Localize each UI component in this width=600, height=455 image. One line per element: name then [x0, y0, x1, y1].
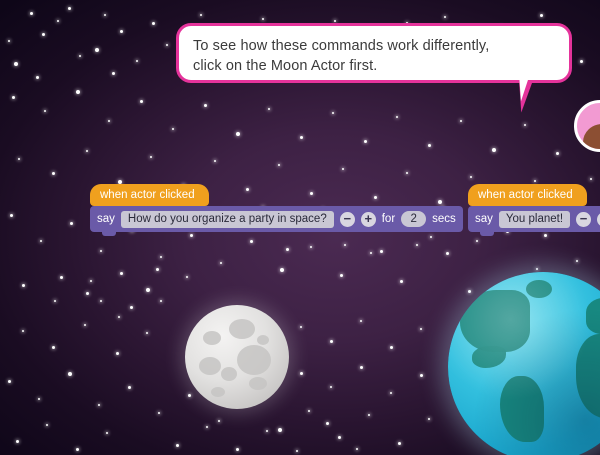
star	[590, 178, 592, 180]
star	[12, 96, 15, 99]
star	[188, 394, 191, 397]
star	[428, 418, 430, 420]
star	[390, 346, 393, 349]
star	[84, 324, 86, 326]
hat-block-when-actor-clicked[interactable]: when actor clicked	[468, 184, 587, 206]
say-text-input[interactable]: You planet!	[499, 211, 570, 228]
star	[128, 386, 131, 389]
star	[278, 164, 280, 166]
star	[140, 100, 143, 103]
star	[95, 48, 99, 52]
star	[326, 422, 329, 425]
star	[112, 72, 115, 75]
say-for-secs-block[interactable]: say How do you organize a party in space…	[90, 206, 463, 232]
star	[310, 246, 312, 248]
star	[118, 316, 120, 318]
star	[444, 16, 446, 18]
star	[176, 444, 179, 447]
star	[156, 268, 159, 271]
star	[236, 448, 239, 451]
moon-crater	[199, 357, 221, 375]
star	[356, 448, 358, 450]
star	[204, 104, 207, 107]
speech-bubble-tail-inner	[519, 74, 532, 102]
star	[22, 330, 24, 332]
star	[300, 372, 303, 375]
star	[214, 160, 216, 162]
star	[90, 280, 92, 282]
star	[36, 76, 39, 79]
star	[308, 410, 310, 412]
secs-label: secs	[432, 213, 456, 225]
star	[220, 262, 222, 264]
star	[42, 33, 45, 36]
star	[18, 158, 20, 160]
star	[332, 112, 334, 114]
star	[98, 404, 100, 406]
star	[218, 420, 220, 422]
star	[390, 392, 392, 394]
avatar-hair	[583, 124, 600, 152]
star	[60, 276, 63, 279]
star	[544, 234, 547, 237]
moon-actor[interactable]	[185, 305, 289, 409]
star	[556, 152, 559, 155]
star	[106, 432, 108, 434]
moon-crater	[221, 367, 237, 381]
star	[280, 268, 284, 272]
moon-crater	[237, 345, 271, 375]
moon-crater	[229, 319, 255, 339]
star	[10, 214, 13, 217]
star	[370, 252, 372, 254]
star	[57, 20, 59, 22]
star	[146, 288, 150, 292]
star	[540, 14, 543, 17]
say-label: say	[475, 213, 493, 225]
moon-crater	[257, 335, 269, 345]
star	[152, 22, 155, 25]
star	[108, 120, 110, 122]
star	[44, 110, 46, 112]
star	[206, 426, 208, 428]
moon-crater	[211, 387, 225, 397]
star	[120, 30, 123, 33]
star	[166, 44, 168, 46]
star	[120, 272, 123, 275]
star	[430, 236, 432, 238]
star	[398, 442, 401, 445]
star	[76, 90, 80, 94]
star	[338, 436, 341, 439]
star	[368, 414, 370, 416]
star	[420, 328, 422, 330]
star	[460, 120, 462, 122]
star	[46, 424, 48, 426]
star	[150, 156, 152, 158]
star	[278, 428, 282, 432]
star	[334, 20, 336, 22]
star	[262, 18, 264, 20]
script-moon[interactable]: when actor clicked say How do you organi…	[90, 184, 463, 232]
bubble-line-1: To see how these commands work different…	[193, 36, 555, 56]
star	[580, 60, 583, 63]
star	[160, 256, 162, 258]
star	[476, 240, 478, 242]
earth-actor[interactable]	[448, 272, 600, 455]
star	[342, 168, 344, 170]
star	[300, 326, 302, 328]
star	[468, 290, 471, 293]
star	[400, 280, 403, 283]
hat-block-when-actor-clicked[interactable]: when actor clicked	[90, 184, 209, 206]
tutorial-speech-bubble: To see how these commands work different…	[176, 23, 572, 83]
star	[160, 300, 162, 302]
star	[172, 128, 174, 130]
star	[300, 136, 303, 139]
star	[360, 320, 362, 322]
star	[286, 248, 289, 251]
moon-crater	[249, 377, 267, 390]
star	[70, 222, 73, 225]
star	[8, 40, 10, 42]
star	[190, 234, 193, 237]
star	[68, 7, 71, 10]
star	[396, 116, 398, 118]
star	[30, 12, 33, 15]
star	[100, 300, 102, 302]
star	[340, 274, 343, 277]
star	[576, 260, 578, 262]
star	[492, 148, 496, 152]
star	[136, 60, 138, 62]
star	[200, 14, 202, 16]
star	[100, 250, 102, 252]
star	[428, 144, 431, 147]
star	[79, 55, 81, 57]
star	[416, 244, 418, 246]
star	[364, 140, 367, 143]
star	[296, 450, 298, 452]
say-block[interactable]: say You planet! − +	[468, 206, 600, 232]
star	[52, 346, 55, 349]
space-stage: To see how these commands work different…	[0, 0, 600, 455]
star	[406, 172, 408, 174]
star	[40, 240, 42, 242]
star	[158, 412, 160, 414]
star	[268, 108, 270, 110]
star	[8, 380, 11, 383]
star	[536, 268, 538, 270]
bubble-line-2: click on the Moon Actor first.	[193, 56, 555, 76]
star	[86, 292, 89, 295]
minus-icon[interactable]: −	[576, 212, 591, 227]
star	[52, 172, 55, 175]
star	[524, 124, 526, 126]
star	[266, 430, 268, 432]
star	[250, 240, 253, 243]
star	[38, 398, 40, 400]
star	[22, 284, 25, 287]
star	[420, 374, 423, 377]
star	[186, 276, 188, 278]
star	[14, 62, 18, 66]
star	[330, 386, 332, 388]
star	[534, 180, 536, 182]
star	[236, 132, 240, 136]
star	[146, 332, 148, 334]
seconds-input[interactable]: 2	[401, 211, 426, 227]
plus-icon[interactable]: +	[361, 212, 376, 227]
star	[130, 306, 133, 309]
script-earth[interactable]: when actor clicked say You planet! − +	[468, 184, 600, 232]
star	[54, 300, 56, 302]
star	[68, 372, 72, 376]
minus-icon[interactable]: −	[340, 212, 355, 227]
star	[330, 340, 333, 343]
say-label: say	[97, 213, 115, 225]
star	[470, 176, 472, 178]
star	[116, 352, 119, 355]
star	[446, 252, 449, 255]
star	[380, 250, 383, 253]
star	[104, 14, 106, 16]
for-label: for	[382, 213, 395, 225]
star	[344, 244, 346, 246]
star	[86, 150, 88, 152]
star	[360, 366, 363, 369]
star	[16, 440, 19, 443]
say-text-input[interactable]: How do you organize a party in space?	[121, 211, 334, 228]
star	[76, 448, 79, 451]
moon-crater	[203, 331, 221, 345]
